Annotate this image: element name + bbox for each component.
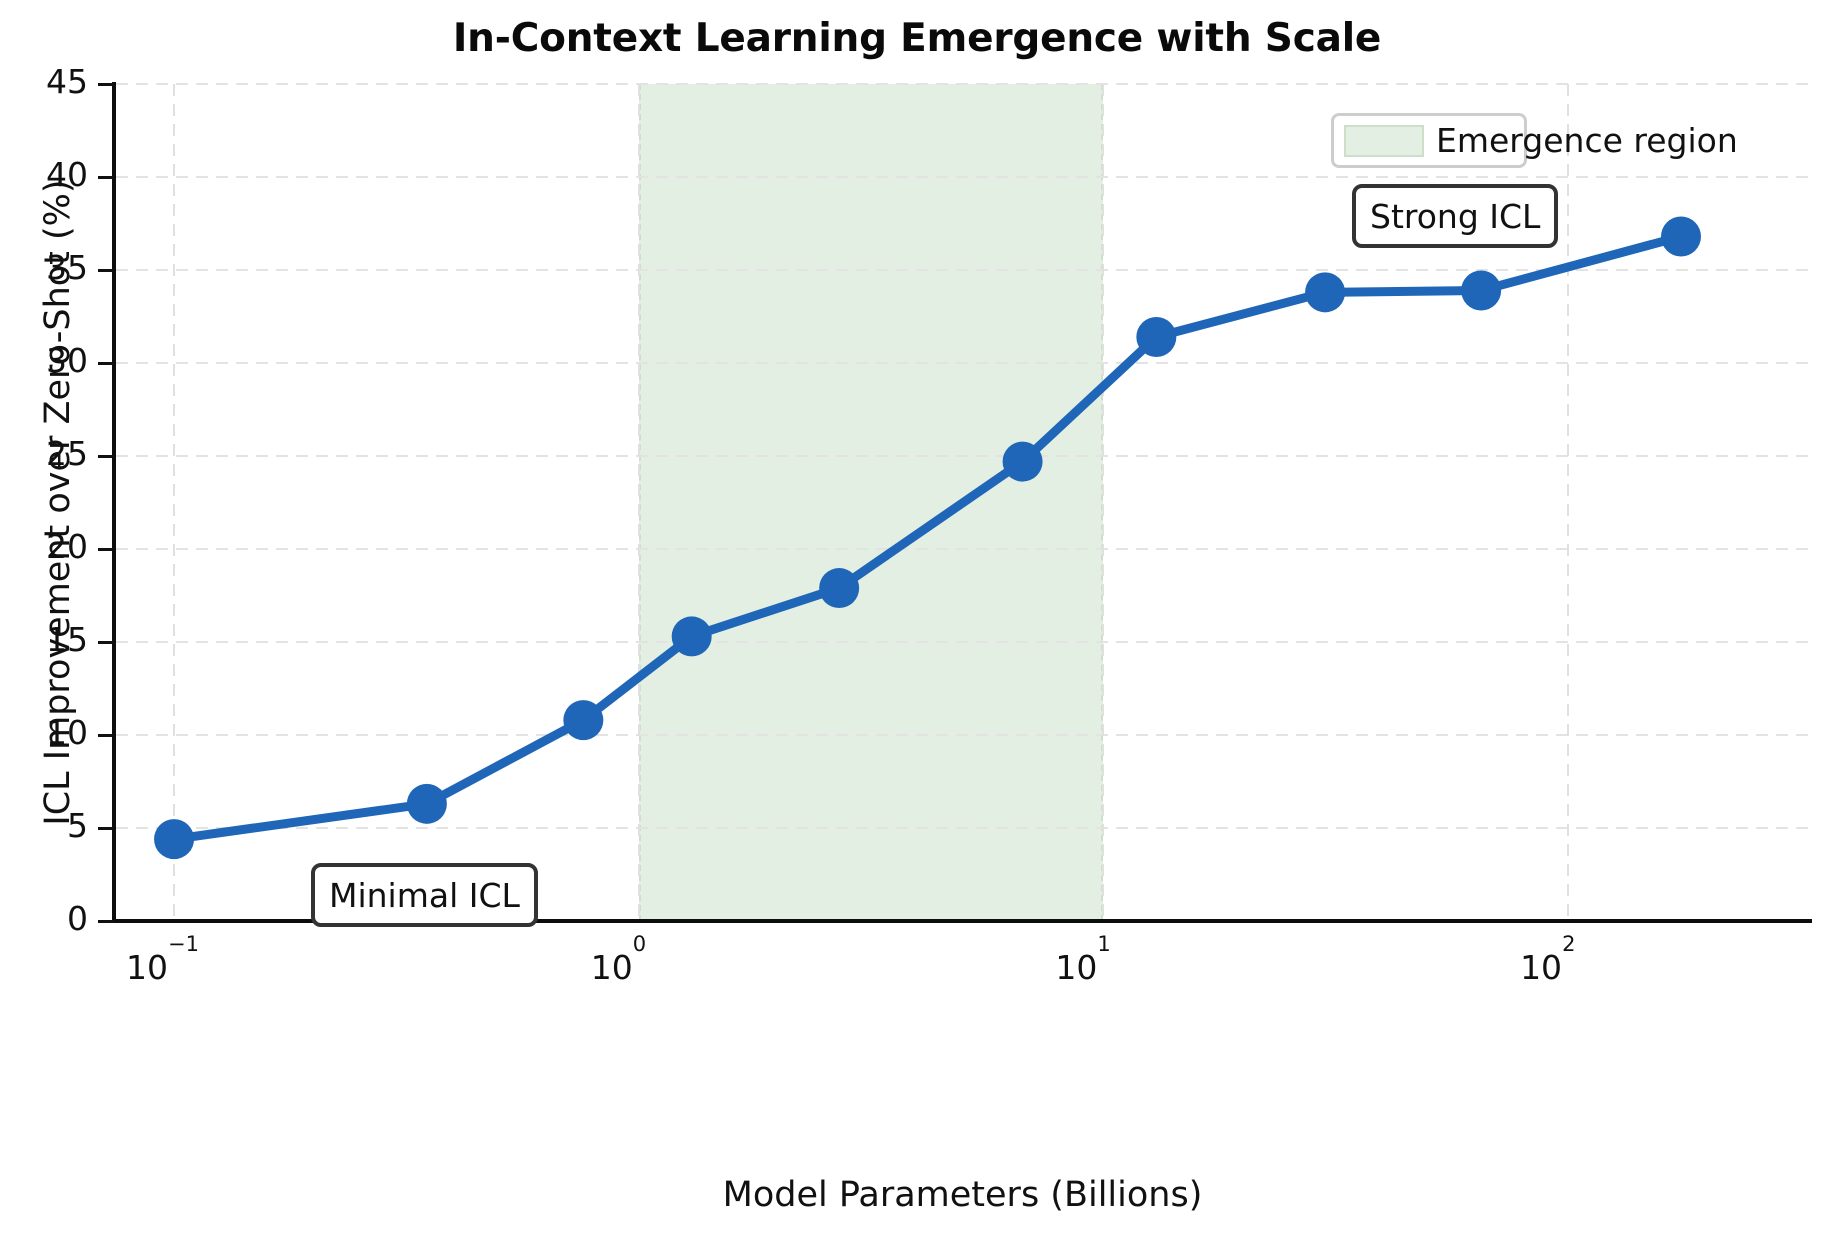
y-tick-mark [98,734,114,737]
data-point-marker[interactable] [1003,442,1043,482]
y-axis-spine [112,82,116,923]
data-point-marker[interactable] [154,819,194,859]
y-tick-mark [98,455,114,458]
y-tick-mark [98,548,114,551]
annotation-strong-icl: Strong ICL [1352,184,1558,248]
legend: Emergence region [1331,113,1527,168]
series-polyline [174,237,1681,840]
data-point-marker[interactable] [563,700,603,740]
data-point-marker[interactable] [1136,317,1176,357]
annotation-minimal-icl: Minimal ICL [311,863,538,927]
page-title: In-Context Learning Emergence with Scale [0,16,1834,61]
y-tick-mark [98,827,114,830]
legend-label-emergence-region: Emergence region [1436,121,1738,160]
data-point-marker[interactable] [672,616,712,656]
chart-canvas: In-Context Learning Emergence with Scale… [0,0,1834,1234]
data-point-marker[interactable] [1461,270,1501,310]
x-axis-label: Model Parameters (Billions) [116,1175,1809,1215]
data-point-marker[interactable] [407,784,447,824]
y-tick-mark [98,920,114,923]
y-tick-mark [98,362,114,365]
x-tick-label: 100 [591,948,646,987]
y-tick-mark [98,641,114,644]
y-axis-label: ICL Improvement over Zero-Shot (%) [38,84,78,921]
legend-swatch-emergence-region [1344,125,1424,157]
x-tick-label: 102 [1520,948,1575,987]
y-tick-mark [98,83,114,86]
y-tick-mark [98,269,114,272]
x-tick-label: 10−1 [126,948,199,987]
y-tick-mark [98,176,114,179]
data-point-marker[interactable] [1661,217,1701,257]
data-point-marker[interactable] [1305,272,1345,312]
x-tick-label: 101 [1055,948,1110,987]
data-point-marker[interactable] [819,568,859,608]
